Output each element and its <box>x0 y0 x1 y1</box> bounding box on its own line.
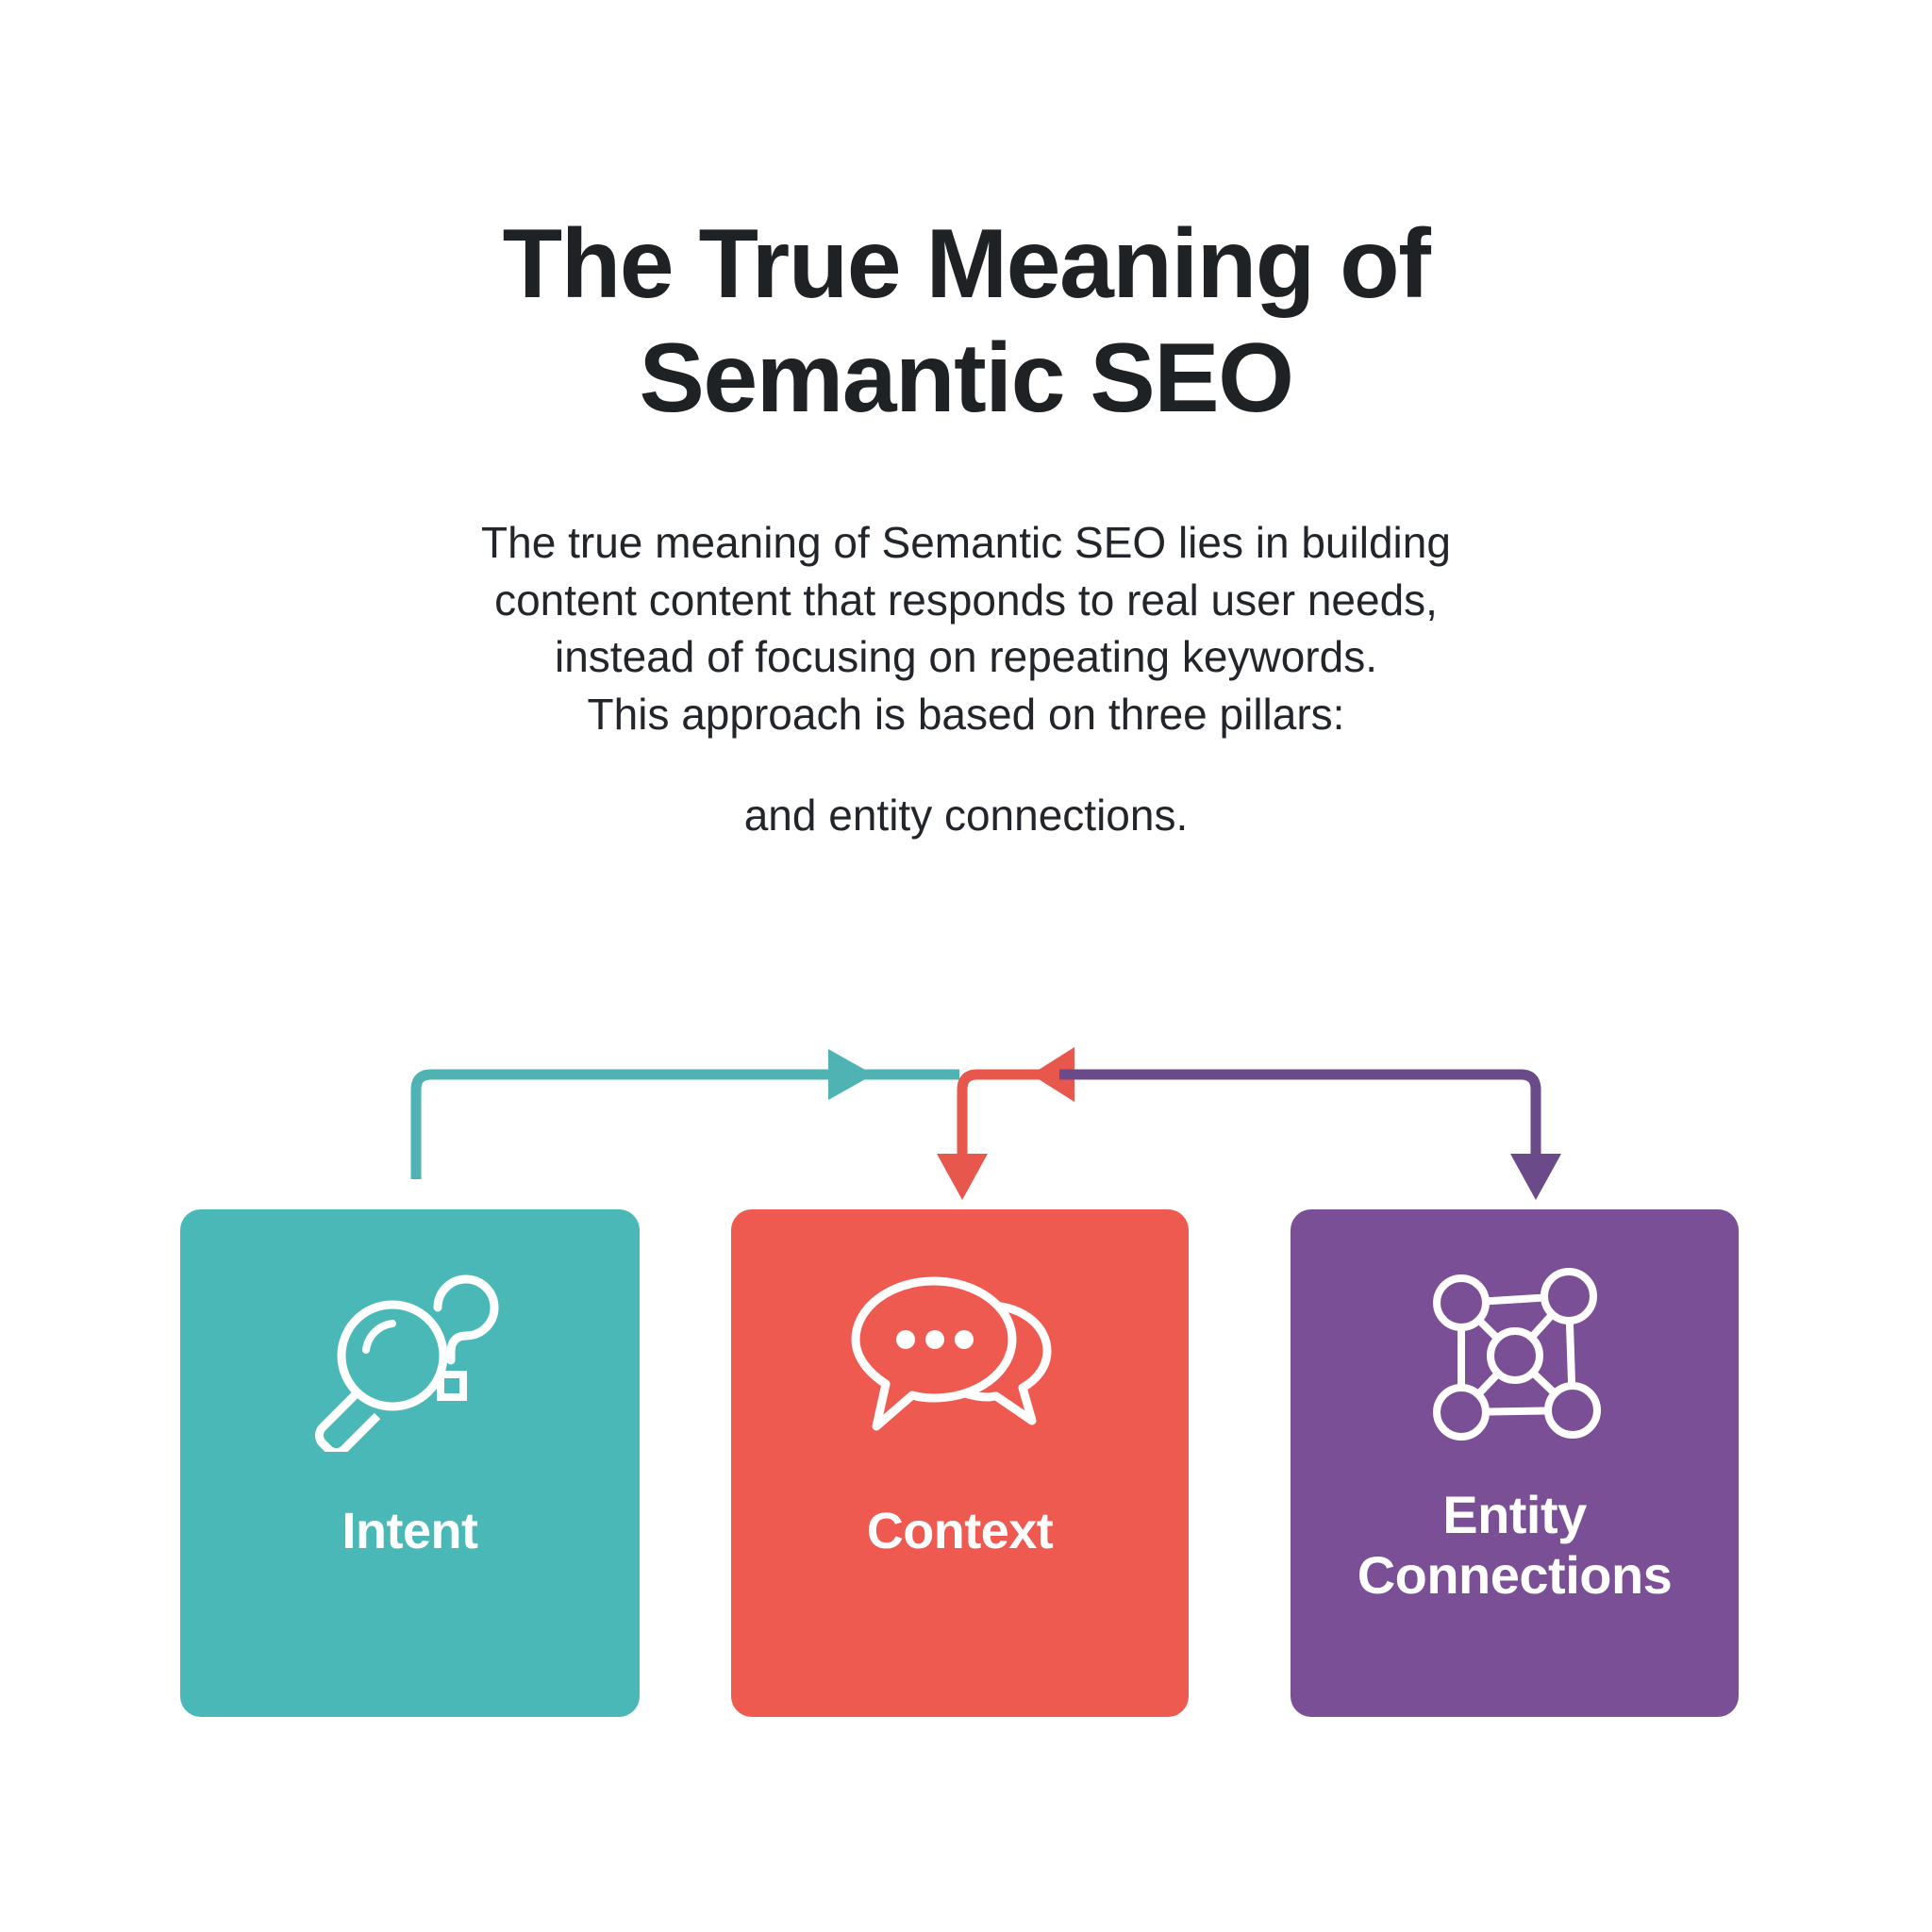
connector-intent-to-context <box>416 1049 959 1179</box>
arrowhead-right-teal <box>828 1049 874 1100</box>
pillar-label-intent: Intent <box>190 1502 630 1560</box>
intro-paragraph: The true meaning of Semantic SEO lies in… <box>306 514 1626 844</box>
intro-line-4: This approach is based on three pillars: <box>306 686 1626 743</box>
connector-entity-connections-inflow <box>1059 1074 1561 1200</box>
intro-line-2: content content that responds to real us… <box>306 572 1626 629</box>
pillar-label-entity-connections-line-1: Entity <box>1442 1485 1587 1544</box>
pillar-label-context: Context <box>741 1502 1179 1560</box>
pillar-label-entity-connections: Entity Connections <box>1300 1485 1729 1607</box>
network-nodes-icon <box>1291 1258 1739 1457</box>
arrowhead-down-purple <box>1510 1154 1561 1200</box>
connector-context-inflow <box>937 1047 1074 1200</box>
intro-spacer <box>306 743 1626 787</box>
page-title-line-2: Semantic SEO <box>306 322 1626 437</box>
infographic-canvas: The True Meaning of Semantic SEO The tru… <box>0 0 1932 1932</box>
page-title-line-1: The True Meaning of <box>306 208 1626 323</box>
pillar-card-entity-connections[interactable]: Entity Connections <box>1291 1209 1739 1717</box>
pillar-card-context[interactable]: Context <box>731 1209 1189 1717</box>
arrowhead-left-coral <box>1031 1047 1074 1102</box>
pillar-card-intent[interactable]: Intent <box>180 1209 640 1717</box>
arrowhead-down-coral <box>937 1154 988 1200</box>
page-title: The True Meaning of Semantic SEO <box>306 208 1626 437</box>
pillar-label-entity-connections-line-2: Connections <box>1357 1545 1673 1605</box>
intro-line-5: and entity connections. <box>306 787 1626 844</box>
intro-line-1: The true meaning of Semantic SEO lies in… <box>306 514 1626 572</box>
magnifier-question-icon <box>180 1258 640 1457</box>
speech-bubbles-icon <box>731 1258 1189 1457</box>
intro-line-3: instead of focusing on repeating keyword… <box>306 628 1626 686</box>
